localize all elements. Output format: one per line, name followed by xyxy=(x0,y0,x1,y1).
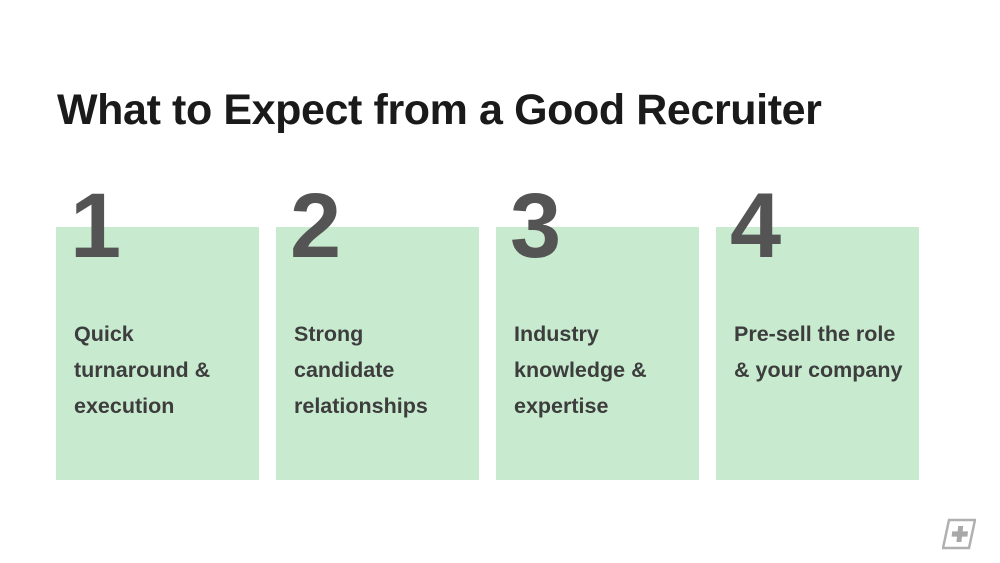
card-text: Quick turnaround & execution xyxy=(74,316,246,424)
card-text: Industry knowledge & expertise xyxy=(514,316,686,424)
expectation-card: 3 Industry knowledge & expertise xyxy=(496,227,699,480)
expectation-card: 1 Quick turnaround & execution xyxy=(56,227,259,480)
page-title: What to Expect from a Good Recruiter xyxy=(57,84,937,136)
expectation-card: 2 Strong candidate relationships xyxy=(276,227,479,480)
card-number: 3 xyxy=(510,180,560,272)
card-number: 1 xyxy=(70,180,120,272)
card-text: Pre-sell the role & your company xyxy=(734,316,906,388)
expectation-card-list: 1 Quick turnaround & execution 2 Strong … xyxy=(56,227,918,480)
expectation-card: 4 Pre-sell the role & your company xyxy=(716,227,919,480)
plus-in-parallelogram-icon xyxy=(942,518,976,550)
card-number: 4 xyxy=(730,180,780,272)
card-number: 2 xyxy=(290,180,340,272)
card-text: Strong candidate relationships xyxy=(294,316,466,424)
slide-canvas: What to Expect from a Good Recruiter 1 Q… xyxy=(0,0,1000,563)
